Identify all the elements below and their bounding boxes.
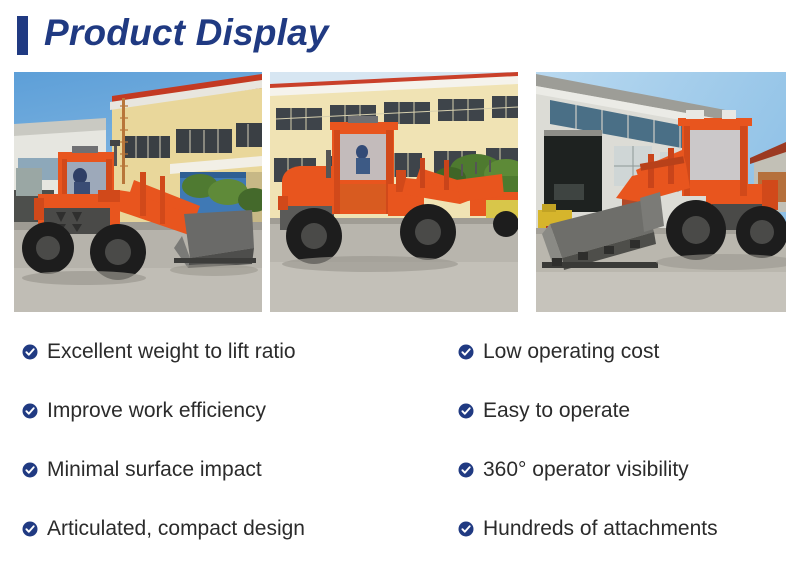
product-photo-3[interactable]: [536, 72, 786, 312]
feature-item-easy-to-operate[interactable]: Easy to operate: [458, 381, 794, 440]
page-title: Product Display: [44, 9, 329, 57]
feature-column-left: Excellent weight to lift ratio Improve w…: [22, 322, 452, 558]
product-feature-list: Excellent weight to lift ratio Improve w…: [0, 322, 800, 578]
check-circle-icon: [22, 521, 38, 537]
wheel-loader-bucket-illustration: [536, 72, 786, 312]
feature-label: Excellent weight to lift ratio: [47, 340, 296, 364]
product-photo-2[interactable]: [270, 72, 518, 312]
wheel-loader-front-quarter-illustration: [14, 72, 262, 312]
feature-label: Easy to operate: [483, 399, 630, 423]
check-circle-icon: [458, 521, 474, 537]
check-circle-icon: [458, 344, 474, 360]
page-header: Product Display: [0, 0, 800, 68]
wheel-loader-side-view-illustration: [270, 72, 518, 312]
feature-label: Articulated, compact design: [47, 517, 305, 541]
product-image-gallery: [0, 72, 800, 312]
check-circle-icon: [22, 462, 38, 478]
feature-item-excellent-weight-to-lift-ratio[interactable]: Excellent weight to lift ratio: [22, 322, 452, 381]
feature-label: 360° operator visibility: [483, 458, 689, 482]
check-circle-icon: [458, 403, 474, 419]
title-accent-bar: [17, 16, 28, 55]
feature-item-improve-work-efficiency[interactable]: Improve work efficiency: [22, 381, 452, 440]
check-circle-icon: [22, 403, 38, 419]
feature-item-360-operator-visibility[interactable]: 360° operator visibility: [458, 440, 794, 499]
check-circle-icon: [458, 462, 474, 478]
feature-item-minimal-surface-impact[interactable]: Minimal surface impact: [22, 440, 452, 499]
product-photo-1[interactable]: [14, 72, 262, 312]
feature-item-hundreds-of-attachments[interactable]: Hundreds of attachments: [458, 499, 794, 558]
feature-item-articulated-compact-design[interactable]: Articulated, compact design: [22, 499, 452, 558]
check-circle-icon: [22, 344, 38, 360]
feature-label: Hundreds of attachments: [483, 517, 718, 541]
feature-item-low-operating-cost[interactable]: Low operating cost: [458, 322, 794, 381]
feature-label: Low operating cost: [483, 340, 659, 364]
feature-column-right: Low operating cost Easy to operate 360° …: [458, 322, 794, 558]
feature-label: Improve work efficiency: [47, 399, 266, 423]
feature-label: Minimal surface impact: [47, 458, 262, 482]
